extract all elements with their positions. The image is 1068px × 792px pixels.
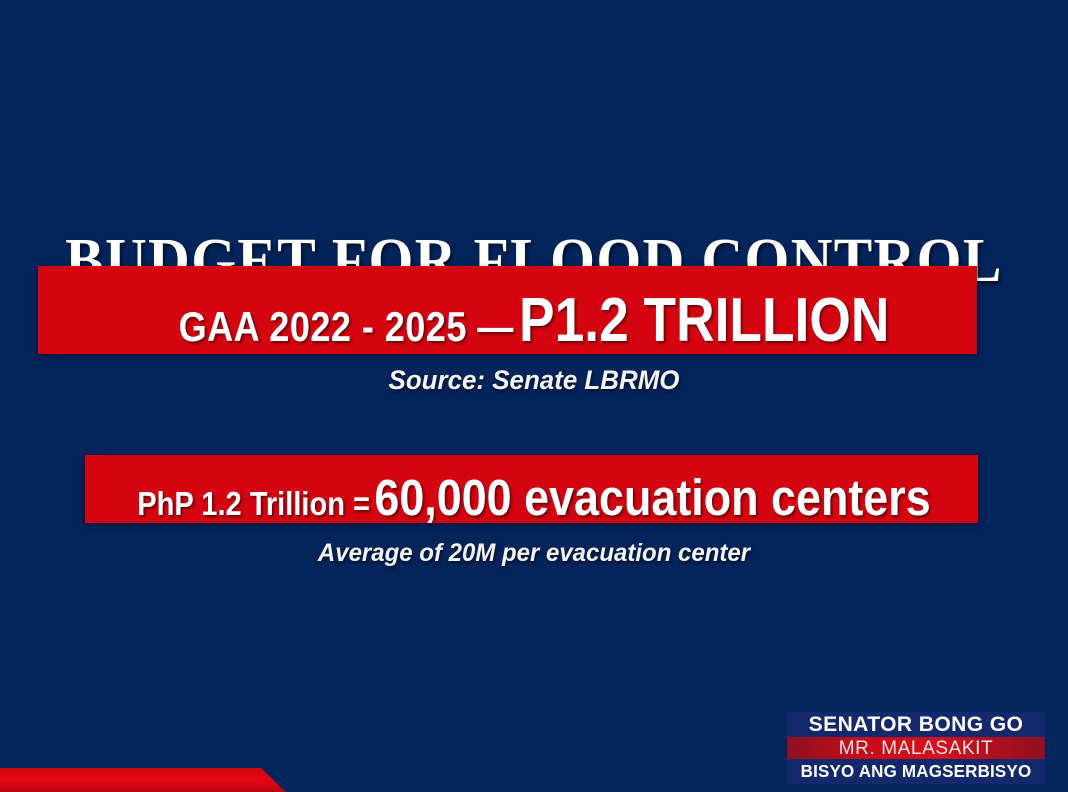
logo-malasakit-bar: MR. MALASAKIT [787,737,1045,759]
gaa-amount-value: P1.2 TRILLION [519,296,889,346]
evacuation-banner-text: PhP 1.2 Trillion = 60,000 evacuation cen… [64,476,1004,526]
slide-canvas: BUDGET FOR FLOOD CONTROL GAA 2022 - 2025… [0,0,1068,792]
logo-malasakit-label: MR. MALASAKIT [839,738,994,759]
gaa-banner-text: GAA 2022 - 2025 — P1.2 TRILLION [75,296,993,352]
logo-senator-name: SENATOR BONG GO [790,712,1043,737]
bottom-left-red-accent-strip [0,768,288,792]
senator-logo-lockup: SENATOR BONG GO MR. MALASAKIT BISYO ANG … [787,712,1045,784]
evacuation-amount-label: PhP 1.2 Trillion = [137,482,374,526]
evacuation-count-value: 60,000 evacuation centers [374,476,930,520]
average-caption: Average of 20M per evacuation center [21,538,1046,568]
gaa-period-label: GAA 2022 - 2025 — [179,302,519,352]
source-caption: Source: Senate LBRMO [21,364,1046,396]
logo-tagline: BISYO ANG MAGSERBISYO [791,759,1041,783]
